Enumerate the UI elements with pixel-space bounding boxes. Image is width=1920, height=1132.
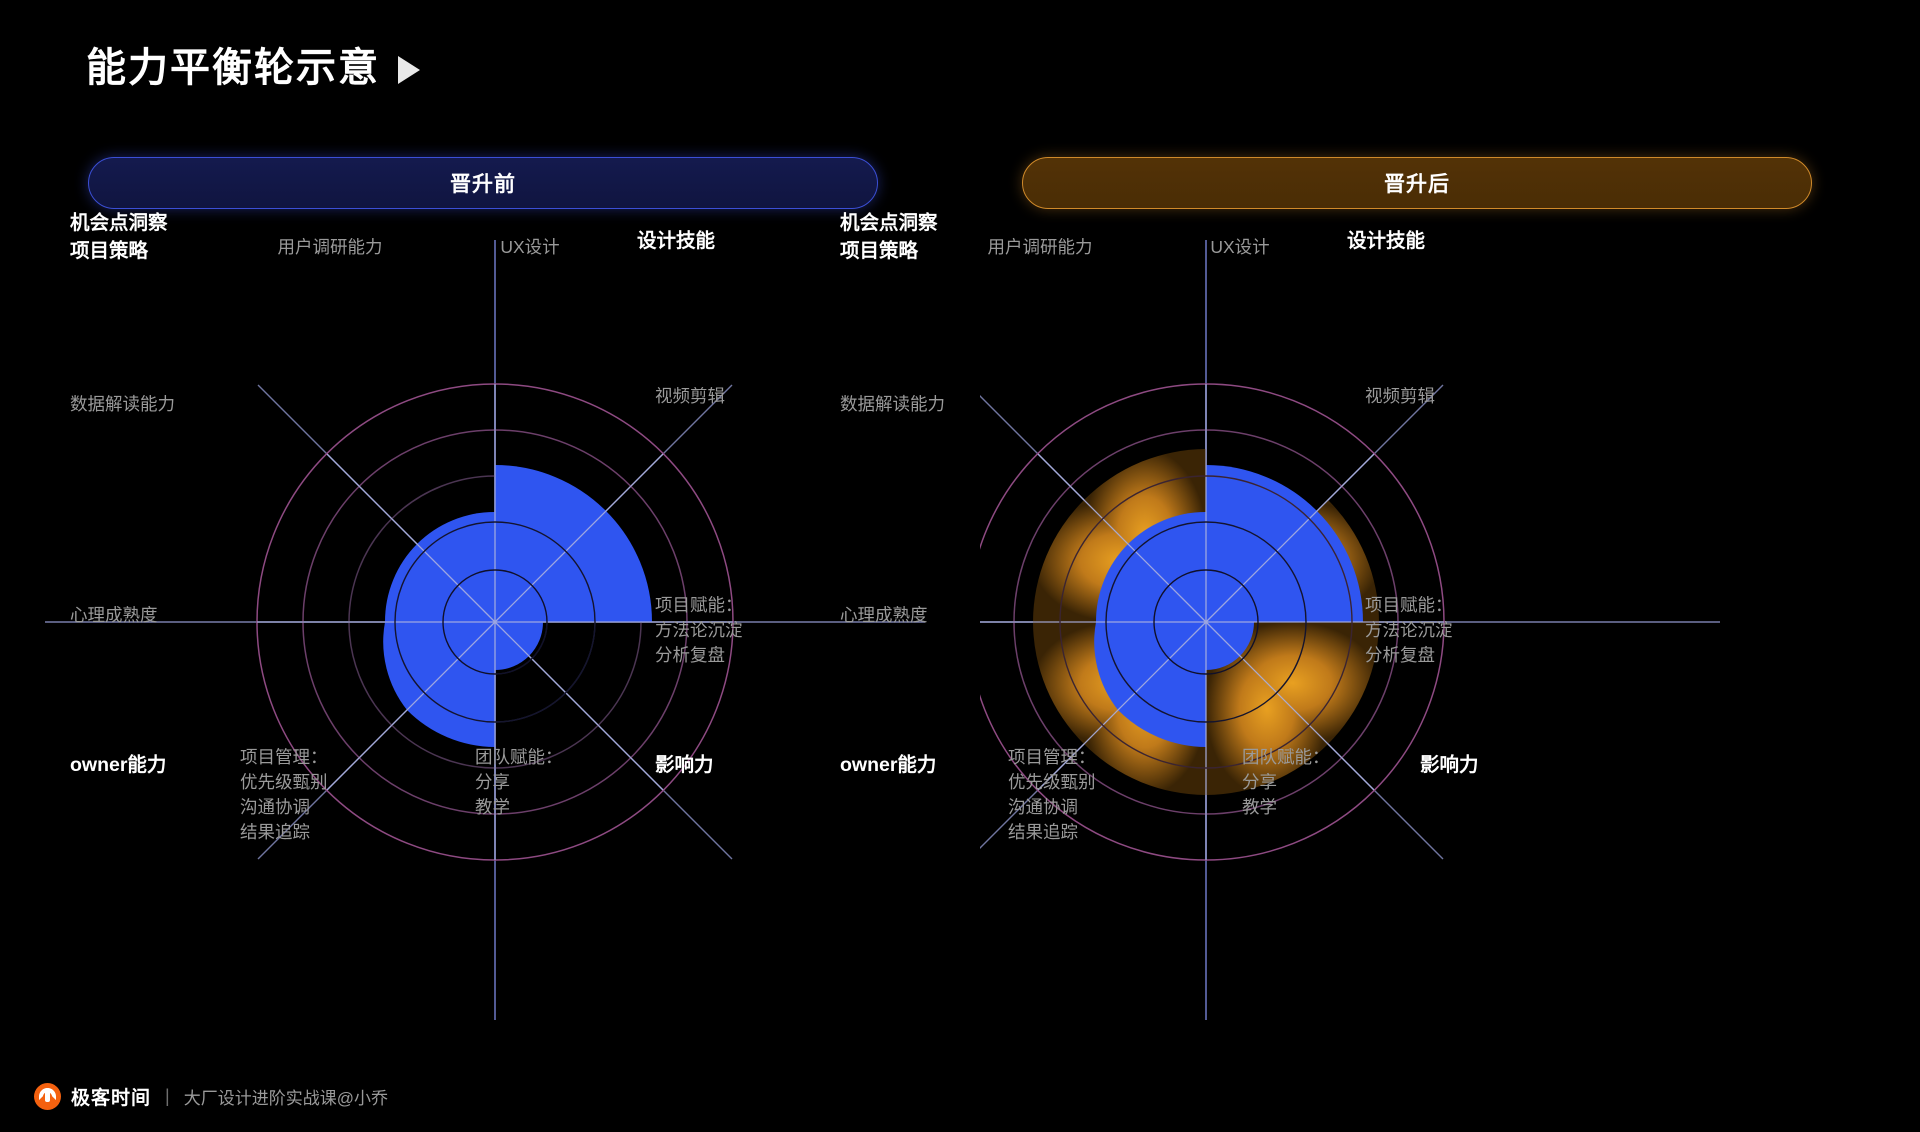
footer-course: 大厂设计进阶实战课@小乔 (184, 1084, 388, 1109)
label-data-reading-after: 数据解读能力 (840, 392, 1050, 417)
label-project-mgmt-after: 项目管理： 优先级甄别 沟通协调 结果追踪 (1008, 745, 1228, 844)
panel-header-after[interactable]: 晋升后 (1022, 157, 1812, 209)
label-user-research-after: 用户调研能力 (940, 235, 1140, 260)
geekbang-logo-icon (34, 1083, 61, 1110)
footer-divider: | (165, 1086, 170, 1107)
panel-header-before[interactable]: 晋升前 (88, 157, 878, 209)
series-before-sectors (383, 465, 652, 747)
label-video-editing-before: 视频剪辑 (655, 384, 865, 409)
panel-header-after-label: 晋升后 (1384, 168, 1450, 198)
label-mental-maturity-after: 心理成熟度 (840, 603, 1050, 628)
label-influence-after: 影响力 (1420, 752, 1630, 780)
panel-header-before-label: 晋升前 (450, 168, 516, 198)
page-title: 能力平衡轮示意 (86, 48, 420, 88)
label-video-editing-after: 视频剪辑 (1365, 384, 1575, 409)
label-data-reading-before: 数据解读能力 (70, 392, 280, 417)
label-project-mgmt-before: 项目管理： 优先级甄别 沟通协调 结果追踪 (240, 745, 460, 844)
footer-brand: 极客时间 (71, 1083, 151, 1110)
label-design-skill-after: 设计技能 (1225, 228, 1425, 256)
label-mental-maturity-before: 心理成熟度 (70, 603, 280, 628)
label-influence-before: 影响力 (655, 752, 865, 780)
label-project-empower-after: 项目赋能： 方法论沉淀 分析复盘 (1365, 593, 1585, 668)
play-triangle-icon (398, 56, 420, 84)
slide-root: 能力平衡轮示意 晋升前 晋升后 (0, 0, 1920, 1132)
chart-before[interactable]: 机会点洞察 项目策略 用户调研能力 UX设计 设计技能 数据解读能力 视频剪辑 … (45, 240, 925, 1020)
footer: 极客时间 | 大厂设计进阶实战课@小乔 (34, 1083, 388, 1110)
label-design-skill-before: 设计技能 (515, 228, 715, 256)
page-title-text: 能力平衡轮示意 (86, 48, 380, 88)
label-user-research-before: 用户调研能力 (230, 235, 430, 260)
chart-after[interactable]: 机会点洞察 项目策略 用户调研能力 UX设计 设计技能 数据解读能力 视频剪辑 … (980, 240, 1860, 1020)
